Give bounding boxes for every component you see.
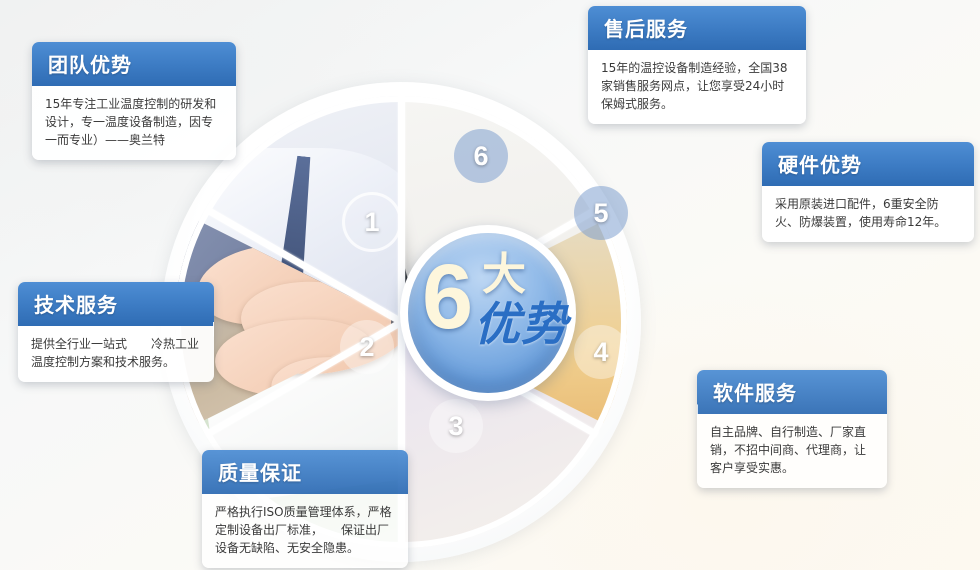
center-badge[interactable]: 6 大 优势 [400, 225, 576, 401]
card-title-software: 软件服务 [697, 370, 887, 414]
callout-card-quality[interactable]: 质量保证 严格执行ISO质量管理体系，严格定制设备出厂标准， 保证出厂设备无缺陷… [202, 450, 408, 568]
card-title-hardware: 硬件优势 [762, 142, 974, 186]
segment-number-3[interactable]: 3 [429, 399, 483, 453]
center-unit-char: 大 [482, 253, 526, 297]
infographic-canvas: STOCK MARKET DATA INTC 44G.95 [0, 0, 980, 570]
callout-tail-quality [352, 567, 371, 568]
card-title-quality: 质量保证 [202, 450, 408, 494]
card-body-quality: 严格执行ISO质量管理体系，严格定制设备出厂标准， 保证出厂设备无缺陷、无安全隐… [202, 494, 408, 568]
callout-tail-software [697, 404, 698, 419]
center-word-script: 优势 [474, 301, 568, 347]
callout-tail-hardware [762, 186, 763, 202]
segment-number-4[interactable]: 4 [574, 325, 628, 379]
callout-tail-after-sales [610, 123, 630, 124]
callout-card-team[interactable]: 团队优势 15年专注工业温度控制的研发和设计，专一温度设备制造，因专一而专业）—… [32, 42, 236, 160]
card-body-after-sales: 15年的温控设备制造经验，全国38家销售服务网点，让您享受24小时保姆式服务。 [588, 50, 806, 124]
card-title-after-sales: 售后服务 [588, 6, 806, 50]
callout-tail-technical [213, 322, 214, 337]
callout-card-software[interactable]: 软件服务 自主品牌、自行制造、厂家直销，不招中间商、代理商，让客户享受实惠。 [697, 370, 887, 488]
card-body-team: 15年专注工业温度控制的研发和设计，专一温度设备制造，因专一而专业）——奥兰特 [32, 86, 236, 160]
callout-card-after-sales[interactable]: 售后服务 15年的温控设备制造经验，全国38家销售服务网点，让您享受24小时保姆… [588, 6, 806, 124]
segment-number-5[interactable]: 5 [574, 186, 628, 240]
callout-card-technical[interactable]: 技术服务 提供全行业一站式 冷热工业温度控制方案和技术服务。 [18, 282, 214, 382]
segment-number-6[interactable]: 6 [454, 129, 508, 183]
card-title-technical: 技术服务 [18, 282, 214, 326]
card-body-software: 自主品牌、自行制造、厂家直销，不招中间商、代理商，让客户享受实惠。 [697, 414, 887, 488]
center-number: 6 [422, 251, 473, 343]
callout-card-hardware[interactable]: 硬件优势 采用原装进口配件，6重安全防火、防爆装置，使用寿命12年。 [762, 142, 974, 242]
segment-number-2[interactable]: 2 [340, 320, 394, 374]
center-badge-inner: 6 大 优势 [408, 233, 568, 393]
segment-number-1[interactable]: 1 [342, 192, 402, 252]
callout-tail-team [200, 159, 220, 160]
card-body-hardware: 采用原装进口配件，6重安全防火、防爆装置，使用寿命12年。 [762, 186, 974, 242]
card-title-team: 团队优势 [32, 42, 236, 86]
card-body-technical: 提供全行业一站式 冷热工业温度控制方案和技术服务。 [18, 326, 214, 382]
